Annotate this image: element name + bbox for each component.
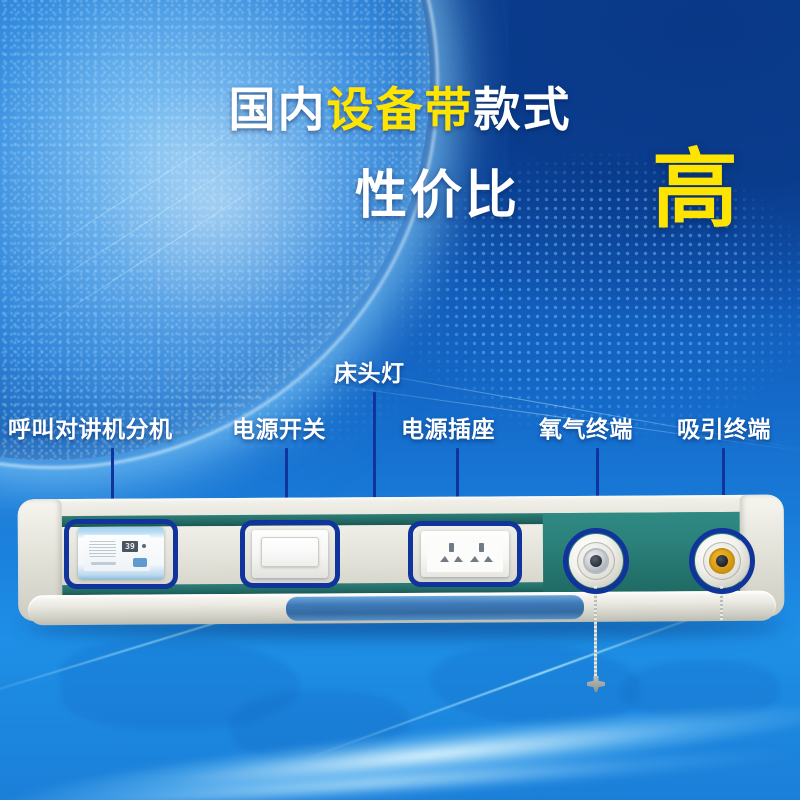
callout-label-bed-lamp: 床头灯 [334,362,405,385]
headline-part-2-highlight: 设备带 [327,83,474,136]
callout-label-power-socket: 电源插座 [401,418,495,441]
promo-banner-stage: 国内设备带款式 性价比 高 呼叫对讲机分机 电源开关 床头灯 电源插座 氧气终端… [0,0,800,800]
highlight-box-power-socket [408,521,522,587]
highlight-box-power-switch [240,520,340,588]
panel-rail-reflection [286,595,584,621]
headline-part-3: 款式 [474,83,572,136]
callout-label-oxygen: 氧气终端 [539,418,633,441]
headline-emphasis: 高 [652,147,738,233]
callout-label-power-switch: 电源开关 [232,418,326,441]
headline-part-1: 国内 [229,83,327,136]
callout-label-intercom: 呼叫对讲机分机 [8,418,173,441]
callout-label-suction: 吸引终端 [677,418,771,441]
oxygen-terminal-cord [594,586,597,678]
highlight-box-intercom [64,519,178,589]
headline-line-1: 国内设备带款式 [0,86,800,133]
headline-line-2: 性价比 [355,170,520,222]
highlight-circle-suction [689,528,755,594]
highlight-circle-oxygen [563,528,629,594]
